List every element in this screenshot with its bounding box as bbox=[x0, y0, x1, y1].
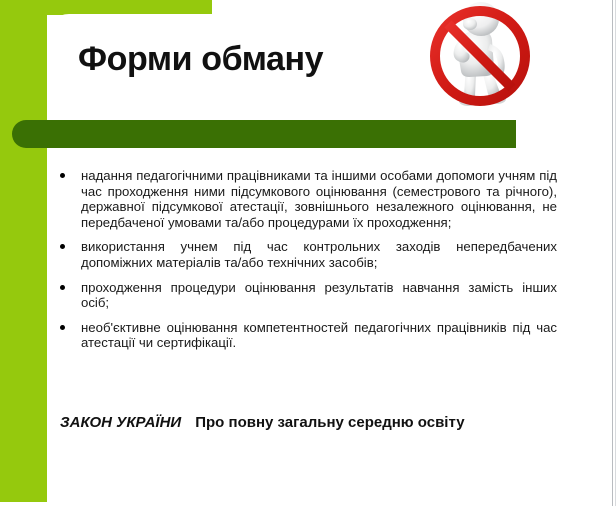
list-item-text: надання педагогічними працівниками та ін… bbox=[81, 168, 557, 230]
top-green-block bbox=[0, 0, 212, 15]
list-item-text: використання учнем під час контрольних з… bbox=[81, 239, 557, 270]
list-item: надання педагогічними працівниками та ін… bbox=[57, 168, 557, 230]
bullet-dot-icon bbox=[60, 285, 65, 290]
bullet-dot-icon bbox=[60, 244, 65, 249]
page-title: Форми обману bbox=[78, 40, 323, 79]
list-item-text: необ'єктивне оцінювання компетентностей … bbox=[81, 320, 557, 351]
right-border-line bbox=[612, 0, 613, 506]
document-title: Про повну загальну середню освіту bbox=[195, 414, 464, 431]
list-item: необ'єктивне оцінювання компетентностей … bbox=[57, 320, 557, 351]
presentation-slide: Форми обману bbox=[0, 0, 616, 506]
source-citation: ЗАКОН УКРАЇНИПро повну загальну середню … bbox=[60, 414, 465, 431]
bullet-dot-icon bbox=[60, 173, 65, 178]
dark-green-divider-bar bbox=[12, 120, 516, 148]
list-item-text: проходження процедури оцінювання результ… bbox=[81, 280, 557, 311]
left-green-band bbox=[0, 0, 47, 502]
bullet-list: надання педагогічними працівниками та ін… bbox=[57, 168, 557, 351]
no-cheating-figure-icon bbox=[418, 0, 542, 112]
list-item: використання учнем під час контрольних з… bbox=[57, 239, 557, 270]
list-item: проходження процедури оцінювання результ… bbox=[57, 280, 557, 311]
bullet-dot-icon bbox=[60, 325, 65, 330]
law-title: ЗАКОН УКРАЇНИ bbox=[60, 414, 181, 431]
